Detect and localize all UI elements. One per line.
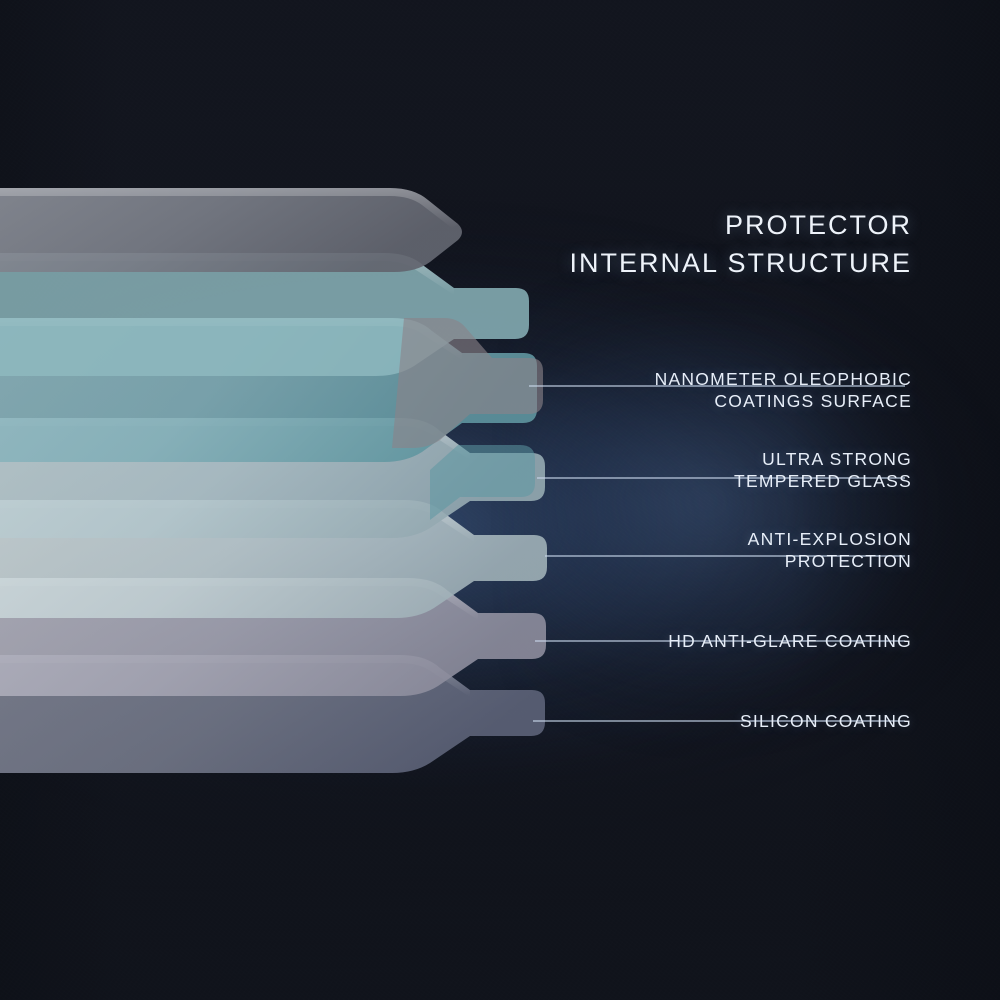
callout-anti-explosion-protection-line-2: PROTECTION	[748, 550, 912, 572]
infographic-canvas: PROTECTOR INTERNAL STRUCTURE NANOMETER O…	[0, 0, 1000, 1000]
callout-ultra-strong-tempered-glass-line-1: ULTRA STRONG	[734, 448, 912, 470]
callout-nanometer-oleophobic-line-2: COATINGS SURFACE	[655, 390, 912, 412]
page-title-line-2: INTERNAL STRUCTURE	[569, 244, 912, 282]
callout-ultra-strong-tempered-glass-line-2: TEMPERED GLASS	[734, 470, 912, 492]
callout-nanometer-oleophobic-line-1: NANOMETER OLEOPHOBIC	[655, 368, 912, 390]
callout-nanometer-oleophobic: NANOMETER OLEOPHOBIC COATINGS SURFACE	[655, 368, 912, 412]
background-bottom-shade	[0, 730, 1000, 1000]
callout-anti-explosion-protection-line-1: ANTI-EXPLOSION	[748, 528, 912, 550]
callout-anti-explosion-protection: ANTI-EXPLOSION PROTECTION	[748, 528, 912, 572]
callout-ultra-strong-tempered-glass: ULTRA STRONG TEMPERED GLASS	[734, 448, 912, 492]
page-title-line-1: PROTECTOR	[569, 206, 912, 244]
callout-hd-anti-glare-coating-line-1: HD ANTI-GLARE COATING	[668, 630, 912, 652]
callout-silicon-coating-line-1: SILICON COATING	[740, 710, 912, 732]
background-top-shade	[0, 0, 1000, 230]
callout-silicon-coating: SILICON COATING	[740, 710, 912, 732]
page-title: PROTECTOR INTERNAL STRUCTURE	[569, 206, 912, 283]
callout-hd-anti-glare-coating: HD ANTI-GLARE COATING	[668, 630, 912, 652]
